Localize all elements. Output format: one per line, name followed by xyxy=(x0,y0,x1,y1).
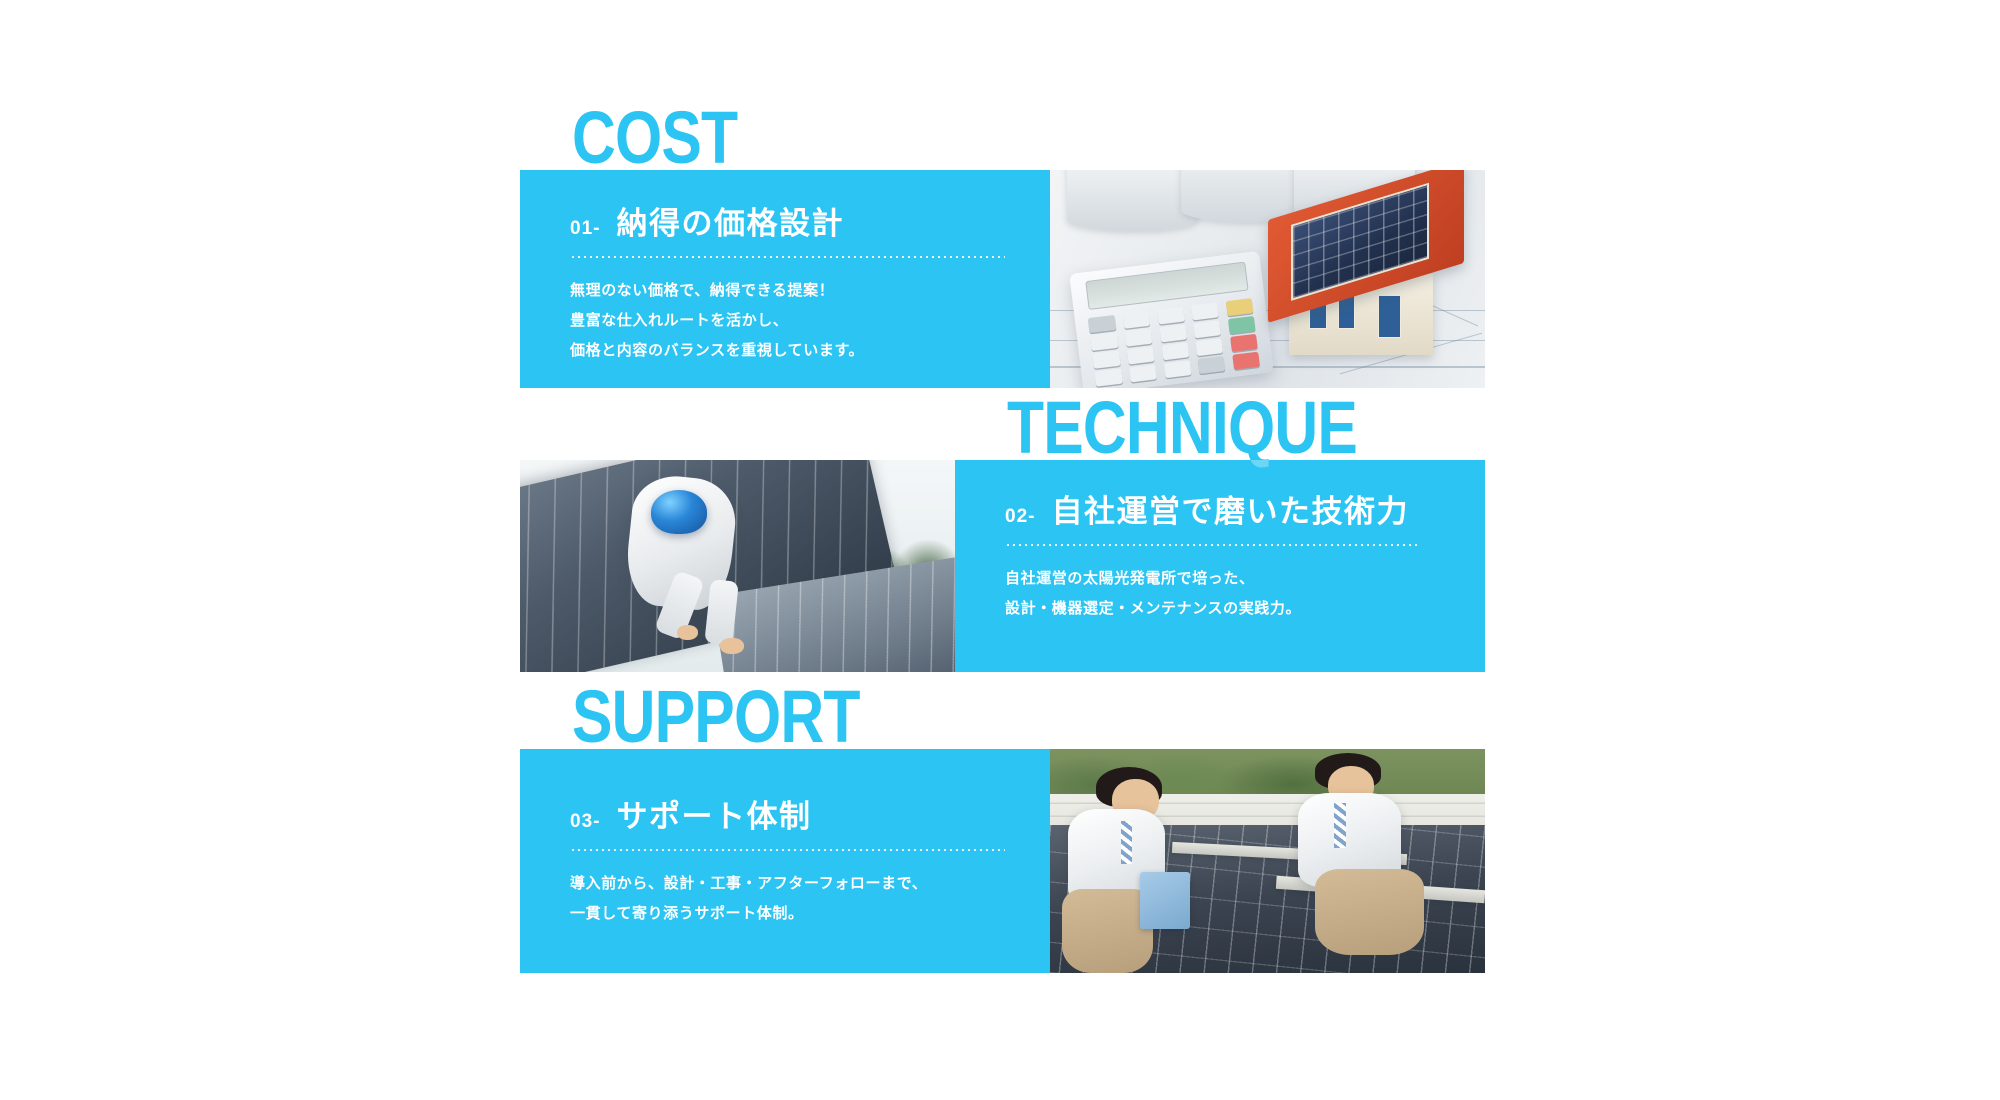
card-body-line: 一貫して寄り添うサポート体制。 xyxy=(570,899,1030,929)
worker-helmet xyxy=(651,490,708,535)
card-divider xyxy=(1005,544,1417,546)
card-photo-cost xyxy=(1050,170,1485,388)
calculator-prop xyxy=(1069,250,1274,388)
feature-section: 01- 納得の価格設計 無理のない価格で、納得できる提案！ 豊富な仕入れルートを… xyxy=(0,0,2000,1100)
card-title-row: 01- 納得の価格設計 xyxy=(570,198,1010,243)
card-photo-support xyxy=(1050,749,1485,973)
feature-card-cost[interactable]: 01- 納得の価格設計 無理のない価格で、納得できる提案！ 豊富な仕入れルートを… xyxy=(520,170,1485,388)
feature-card-support[interactable]: 03- サポート体制 導入前から、設計・工事・アフターフォローまで、 一貫して寄… xyxy=(520,749,1485,973)
ghost-heading-text: COST xyxy=(572,108,737,169)
card-title-row: 03- サポート体制 xyxy=(570,791,1030,836)
card-body: 導入前から、設計・工事・アフターフォローまで、 一貫して寄り添うサポート体制。 xyxy=(570,869,1030,929)
card-number: 02- xyxy=(1005,506,1035,528)
person-right xyxy=(1285,753,1450,959)
card-title: サポート体制 xyxy=(616,791,811,836)
card-title: 自社運営で磨いた技術力 xyxy=(1051,486,1409,531)
card-title-row: 02- 自社運営で磨いた技術力 xyxy=(1005,486,1455,531)
card-body-line: 豊富な仕入れルートを活かし、 xyxy=(570,306,1010,336)
card-photo-technique xyxy=(520,460,955,672)
card-number: 03- xyxy=(570,811,600,833)
card-text-panel: 03- サポート体制 導入前から、設計・工事・アフターフォローまで、 一貫して寄… xyxy=(520,749,1050,973)
card-body: 自社運営の太陽光発電所で培った、 設計・機器選定・メンテナンスの実践力。 xyxy=(1005,564,1455,624)
card-title: 納得の価格設計 xyxy=(616,198,844,243)
solar-house-model xyxy=(1259,179,1477,362)
card-body-line: 無理のない価格で、納得できる提案！ xyxy=(570,276,1010,306)
card-body-line: 設計・機器選定・メンテナンスの実践力。 xyxy=(1005,594,1455,624)
card-number: 01- xyxy=(570,218,600,240)
card-body-line: 自社運営の太陽光発電所で培った、 xyxy=(1005,564,1455,594)
ghost-heading-text: TECHNIQUE xyxy=(1007,398,1357,459)
card-body-line: 導入前から、設計・工事・アフターフォローまで、 xyxy=(570,869,1030,899)
person-left xyxy=(1059,762,1216,973)
card-text-panel: 01- 納得の価格設計 無理のない価格で、納得できる提案！ 豊富な仕入れルートを… xyxy=(520,170,1050,388)
card-text-panel: 02- 自社運営で磨いた技術力 自社運営の太陽光発電所で培った、 設計・機器選定… xyxy=(955,460,1485,672)
ghost-heading-text: SUPPORT xyxy=(572,687,860,748)
card-divider xyxy=(570,849,1005,851)
card-divider xyxy=(570,256,1005,258)
card-body-line: 価格と内容のバランスを重視しています。 xyxy=(570,336,1010,366)
card-body: 無理のない価格で、納得できる提案！ 豊富な仕入れルートを活かし、 価格と内容のバ… xyxy=(570,276,1010,366)
feature-card-technique[interactable]: 02- 自社運営で磨いた技術力 自社運営の太陽光発電所で培った、 設計・機器選定… xyxy=(520,460,1485,672)
